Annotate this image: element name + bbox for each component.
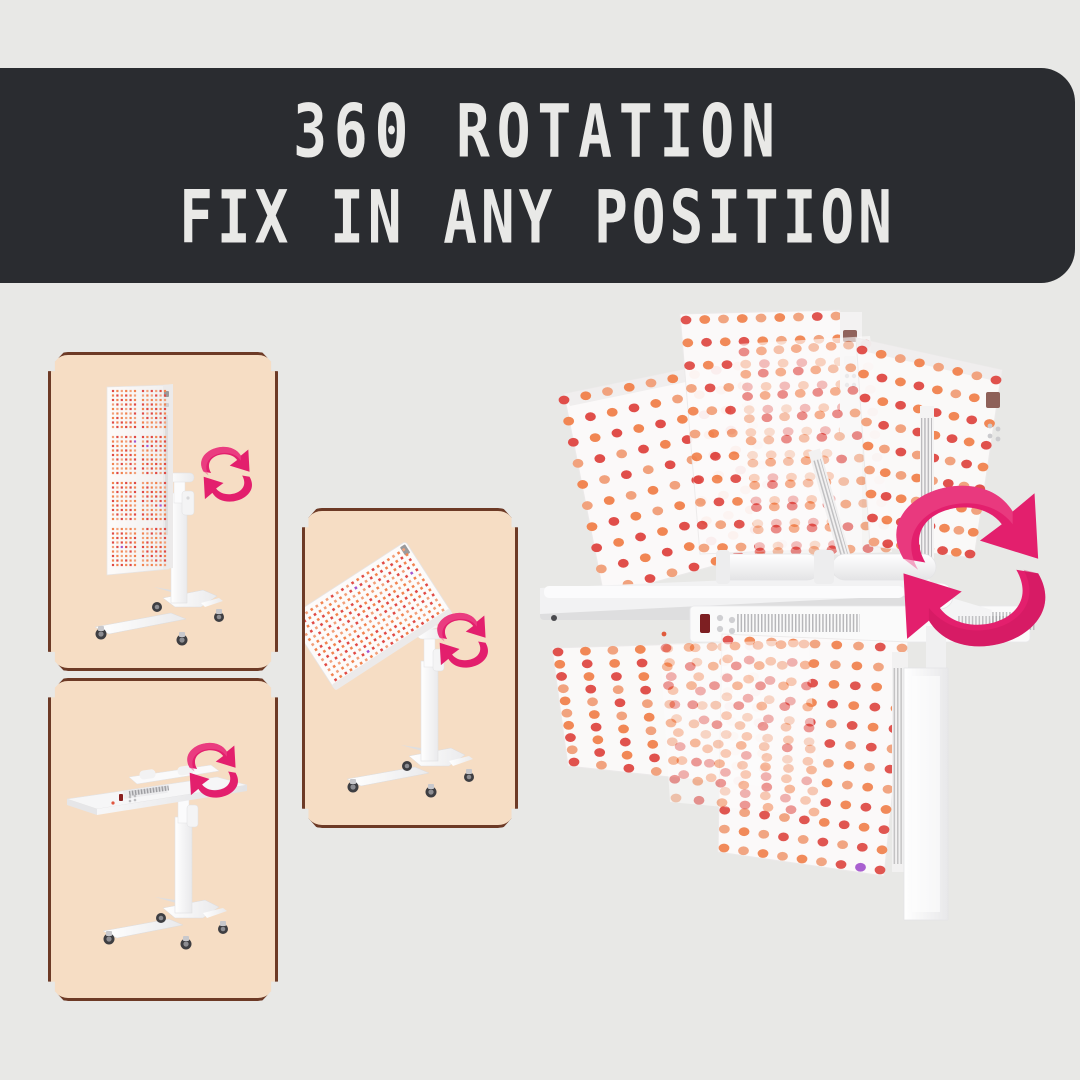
- led-display: [700, 614, 710, 633]
- headline-line-1: 360 ROTATION: [293, 96, 782, 170]
- card-horizontal-content: [51, 681, 275, 998]
- headline-line-2: FIX IN ANY POSITION: [179, 181, 896, 255]
- hero-product-composite: [540, 296, 1080, 1080]
- vent-slots: [736, 614, 860, 632]
- card-tilted-content: [305, 511, 515, 825]
- tilted-position-illustration: [305, 511, 515, 825]
- stand-column: [171, 787, 198, 913]
- control-button: [717, 615, 723, 621]
- panel-position-7: [660, 640, 820, 817]
- led-panel-vertical: [107, 384, 173, 575]
- control-button: [729, 628, 735, 634]
- headline-banner: 360 ROTATION FIX IN ANY POSITION: [0, 68, 1075, 283]
- control-button: [729, 617, 735, 623]
- stand-column: [413, 623, 444, 761]
- inset-card-horizontal-position: [48, 678, 278, 1001]
- poster-canvas: 360 ROTATION FIX IN ANY POSITION: [0, 0, 1080, 1080]
- control-button: [717, 626, 723, 632]
- inset-card-vertical-position: [48, 352, 278, 671]
- card-vertical-content: [51, 355, 275, 668]
- inset-card-tilted-position: [302, 508, 518, 828]
- rotation-arrow-icon: [437, 613, 488, 668]
- rotation-arrow-icon: [201, 447, 252, 502]
- panel-rotation-fan: [559, 310, 1002, 596]
- vertical-position-illustration: [51, 355, 275, 668]
- hero-illustration: [540, 296, 1080, 1080]
- horizontal-position-illustration: [51, 681, 275, 998]
- vent-column: [920, 406, 934, 566]
- panel-rotation-fan-lower: [552, 634, 908, 876]
